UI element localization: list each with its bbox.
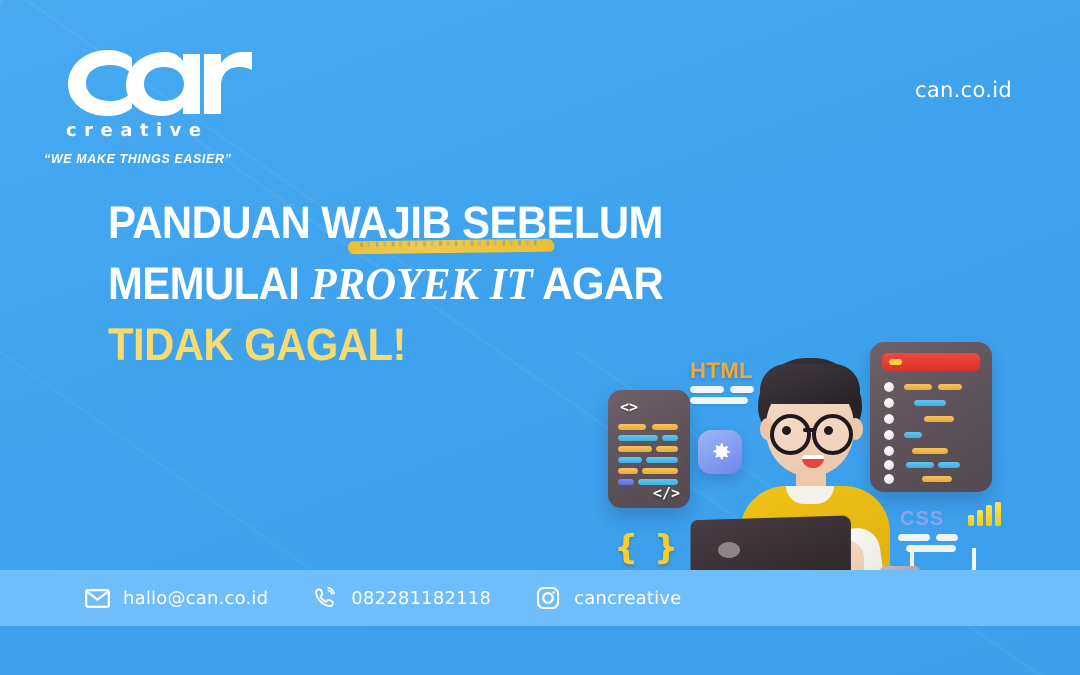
contact-phone-label: 082281182118	[351, 588, 491, 609]
glasses-left-lens	[770, 414, 811, 455]
glasses-bridge	[803, 428, 814, 432]
eye-left	[782, 426, 791, 435]
laptop-logo	[718, 542, 740, 558]
bar-chart-icon	[968, 502, 1002, 526]
curly-braces-icon: { }	[614, 528, 680, 568]
brand-tagline: “WE MAKE THINGS EASIER”	[44, 152, 300, 166]
bg-streak	[0, 350, 343, 593]
headline-line-1: PANDUAN WAJIB SEBELUM	[108, 198, 815, 248]
contact-instagram[interactable]: cancreative	[535, 585, 681, 611]
contact-instagram-label: cancreative	[574, 588, 681, 609]
eye-right	[824, 426, 833, 435]
html-bar	[690, 386, 724, 393]
contact-email[interactable]: hallo@can.co.id	[84, 585, 268, 611]
contact-email-label: hallo@can.co.id	[123, 588, 268, 609]
headline-line-2-suffix: AGAR	[533, 258, 664, 309]
instagram-icon	[535, 585, 561, 611]
poster-canvas: creative “WE MAKE THINGS EASIER” can.co.…	[0, 0, 1080, 675]
envelope-icon	[84, 585, 110, 611]
contact-phone[interactable]: 082281182118	[312, 585, 491, 611]
contact-footer: hallo@can.co.id 082281182118	[0, 570, 1080, 626]
logo-word-creative: creative	[66, 120, 300, 141]
headline-line-2-prefix: MEMULAI	[108, 258, 310, 309]
phone-icon	[312, 585, 338, 611]
code-card-left: <> </>	[608, 390, 690, 508]
glasses-right-lens	[812, 414, 853, 455]
hair-fringe	[760, 364, 860, 404]
headline-line-2-italic: PROYEK IT	[310, 258, 532, 309]
code-close-tag-icon: </>	[653, 484, 680, 502]
brand-logo[interactable]: creative “WE MAKE THINGS EASIER”	[40, 46, 300, 166]
headline-line-2: MEMULAI PROYEK IT AGAR	[108, 259, 815, 309]
site-url[interactable]: can.co.id	[915, 78, 1012, 102]
brush-underline	[348, 239, 555, 255]
can-logo-mark	[62, 46, 252, 118]
css-bar	[936, 534, 958, 541]
code-open-tag-icon: <>	[620, 398, 638, 416]
